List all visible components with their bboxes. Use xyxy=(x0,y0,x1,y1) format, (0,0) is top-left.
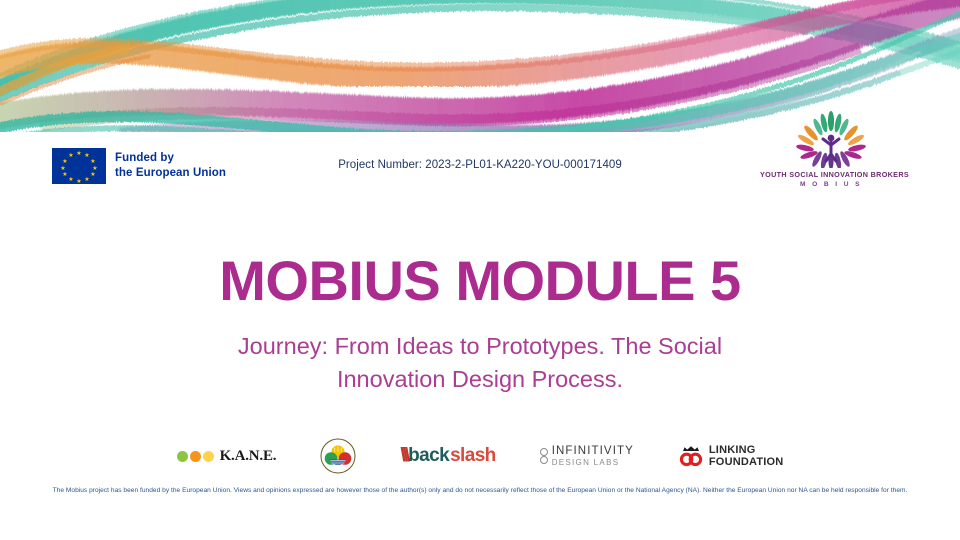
backslash-label-part2: slash xyxy=(450,445,496,467)
partner-logos-row: K.A.N.E. \\\ back slash INFINITIVI xyxy=(0,436,960,476)
infinity-circles-icon xyxy=(540,448,548,464)
backslash-label-part1: back xyxy=(408,445,449,467)
partner-logo-backslash: \\\ back slash xyxy=(400,436,495,476)
page-subtitle: Journey: From Ideas to Prototypes. The S… xyxy=(210,330,750,397)
kane-dots-icon xyxy=(177,451,214,462)
presentation-slide: ★ ★ ★ ★ ★ ★ ★ ★ ★ ★ ★ ★ Funded by the Eu… xyxy=(0,0,960,540)
infinitivity-line1: INFINITIVITY xyxy=(552,445,634,457)
partner-logo-linking-foundation: LINKING FOUNDATION xyxy=(678,436,784,476)
partner-logo-infinitivity: INFINITIVITY DESIGN LABS xyxy=(540,436,634,476)
linking-line1: LINKING xyxy=(709,444,784,456)
linking-line2: FOUNDATION xyxy=(709,456,784,468)
infinitivity-line2: DESIGN LABS xyxy=(552,458,634,467)
partner-logo-kane: K.A.N.E. xyxy=(177,436,277,476)
mobius-logo-subtitle: M O B I U S xyxy=(760,181,902,188)
mobius-emblem-icon xyxy=(792,110,870,168)
mobius-brand-logo: YOUTH SOCIAL INNOVATION BROKERS M O B I … xyxy=(760,110,902,188)
chain-link-crown-icon xyxy=(678,444,704,468)
circular-emblem-icon xyxy=(320,438,356,474)
funding-disclaimer: The Mobius project has been funded by th… xyxy=(40,486,920,497)
page-title: MOBIUS MODULE 5 xyxy=(0,252,960,311)
kane-label: K.A.N.E. xyxy=(220,448,277,465)
partner-logo-emblem xyxy=(320,436,356,476)
mobius-logo-title: YOUTH SOCIAL INNOVATION BROKERS xyxy=(760,170,902,179)
backslash-slashes-icon: \\\ xyxy=(400,445,407,467)
